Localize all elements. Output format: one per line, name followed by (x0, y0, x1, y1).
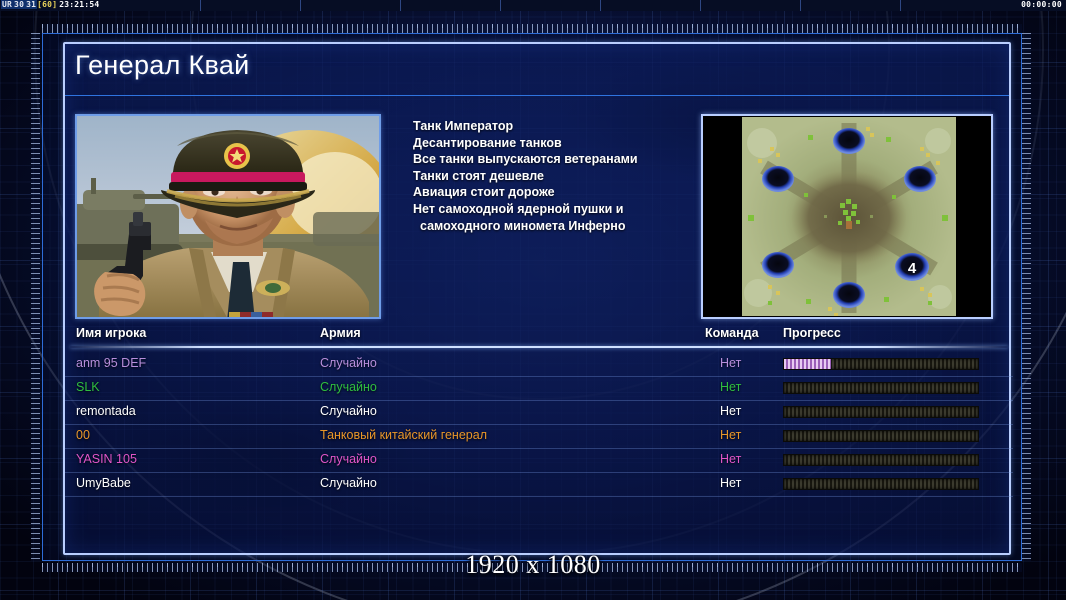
network-stats-overlay: UR3031[60]23:21:54 (1, 0, 99, 9)
network-value-2: 31 (25, 0, 37, 9)
column-header-army: Армия (320, 326, 361, 340)
table-row[interactable]: SLKСлучайноНет (65, 377, 1013, 401)
description-line: Авиация стоит дороже (413, 184, 743, 201)
svg-text:4: 4 (908, 260, 917, 277)
player-team: Нет (720, 452, 741, 466)
player-name: remontada (76, 404, 136, 418)
game-lobby-screen: UR3031[60]23:21:54 00:00:00 Генерал Квай (0, 0, 1066, 600)
player-table: Имя игрока Армия Команда Прогресс anm 95… (65, 326, 1013, 497)
player-name: SLK (76, 380, 100, 394)
main-panel: Генерал Квай (63, 42, 1011, 555)
table-row[interactable]: UmyBabeСлучайноНет (65, 473, 1013, 497)
player-army: Случайно (320, 380, 377, 394)
progress-bar (783, 406, 979, 418)
player-army: Случайно (320, 452, 377, 466)
ruler-left (31, 33, 40, 561)
player-army: Случайно (320, 476, 377, 490)
general-portrait-image (77, 116, 379, 317)
player-army: Случайно (320, 356, 377, 370)
player-team: Нет (720, 404, 741, 418)
column-header-progress: Прогресс (783, 326, 841, 340)
general-info-row: Танк Император Десантирование танков Все… (65, 96, 1013, 322)
table-row[interactable]: YASIN 105СлучайноНет (65, 449, 1013, 473)
player-army: Танковый китайский генерал (320, 428, 487, 442)
player-name: UmyBabe (76, 476, 131, 490)
match-clock: 00:00:00 (1021, 0, 1062, 9)
player-army: Случайно (320, 404, 377, 418)
map-preview-box[interactable]: 4 (701, 114, 993, 319)
progress-bar-fill (784, 359, 831, 369)
progress-bar (783, 454, 979, 466)
player-team: Нет (720, 428, 741, 442)
general-description: Танк Император Десантирование танков Все… (413, 118, 743, 234)
table-row[interactable]: anm 95 DEFСлучайноНет (65, 353, 1013, 377)
network-label: UR (1, 0, 13, 9)
description-line: Все танки выпускаются ветеранами (413, 151, 743, 168)
ruler-right (1022, 33, 1031, 561)
description-line: Десантирование танков (413, 135, 743, 152)
player-table-header: Имя игрока Армия Команда Прогресс (65, 326, 1013, 347)
column-header-name: Имя игрока (76, 326, 146, 340)
progress-bar (783, 478, 979, 490)
map-preview-inner: 4 (704, 117, 990, 316)
description-line: Нет самоходной ядерной пушки и (413, 201, 743, 218)
column-header-team: Команда (705, 326, 759, 340)
network-timestamp: 23:21:54 (59, 0, 99, 9)
page-title: Генерал Квай (75, 50, 250, 81)
ruler-top (42, 24, 1022, 33)
player-name: 00 (76, 428, 90, 442)
map-preview-image: 4 (742, 117, 956, 316)
progress-bar (783, 430, 979, 442)
player-rows: anm 95 DEFСлучайноНетSLKСлучайноНетremon… (65, 353, 1013, 497)
header-underline (70, 346, 1008, 348)
player-name: anm 95 DEF (76, 356, 146, 370)
description-line: самоходного миномета Инферно (413, 218, 743, 235)
player-team: Нет (720, 476, 741, 490)
top-status-bar: UR3031[60]23:21:54 00:00:00 (0, 0, 1066, 11)
table-row[interactable]: remontadaСлучайноНет (65, 401, 1013, 425)
progress-bar (783, 382, 979, 394)
player-team: Нет (720, 380, 741, 394)
table-row[interactable]: 00Танковый китайский генералНет (65, 425, 1013, 449)
progress-bar (783, 358, 979, 370)
player-name: YASIN 105 (76, 452, 137, 466)
player-team: Нет (720, 356, 741, 370)
description-line: Танк Император (413, 118, 743, 135)
network-value-1: 30 (13, 0, 25, 9)
general-portrait-box (75, 114, 381, 319)
network-fps: [60] (37, 0, 57, 9)
description-line: Танки стоят дешевле (413, 168, 743, 185)
resolution-overlay: 1920 x 1080 (0, 550, 1066, 580)
